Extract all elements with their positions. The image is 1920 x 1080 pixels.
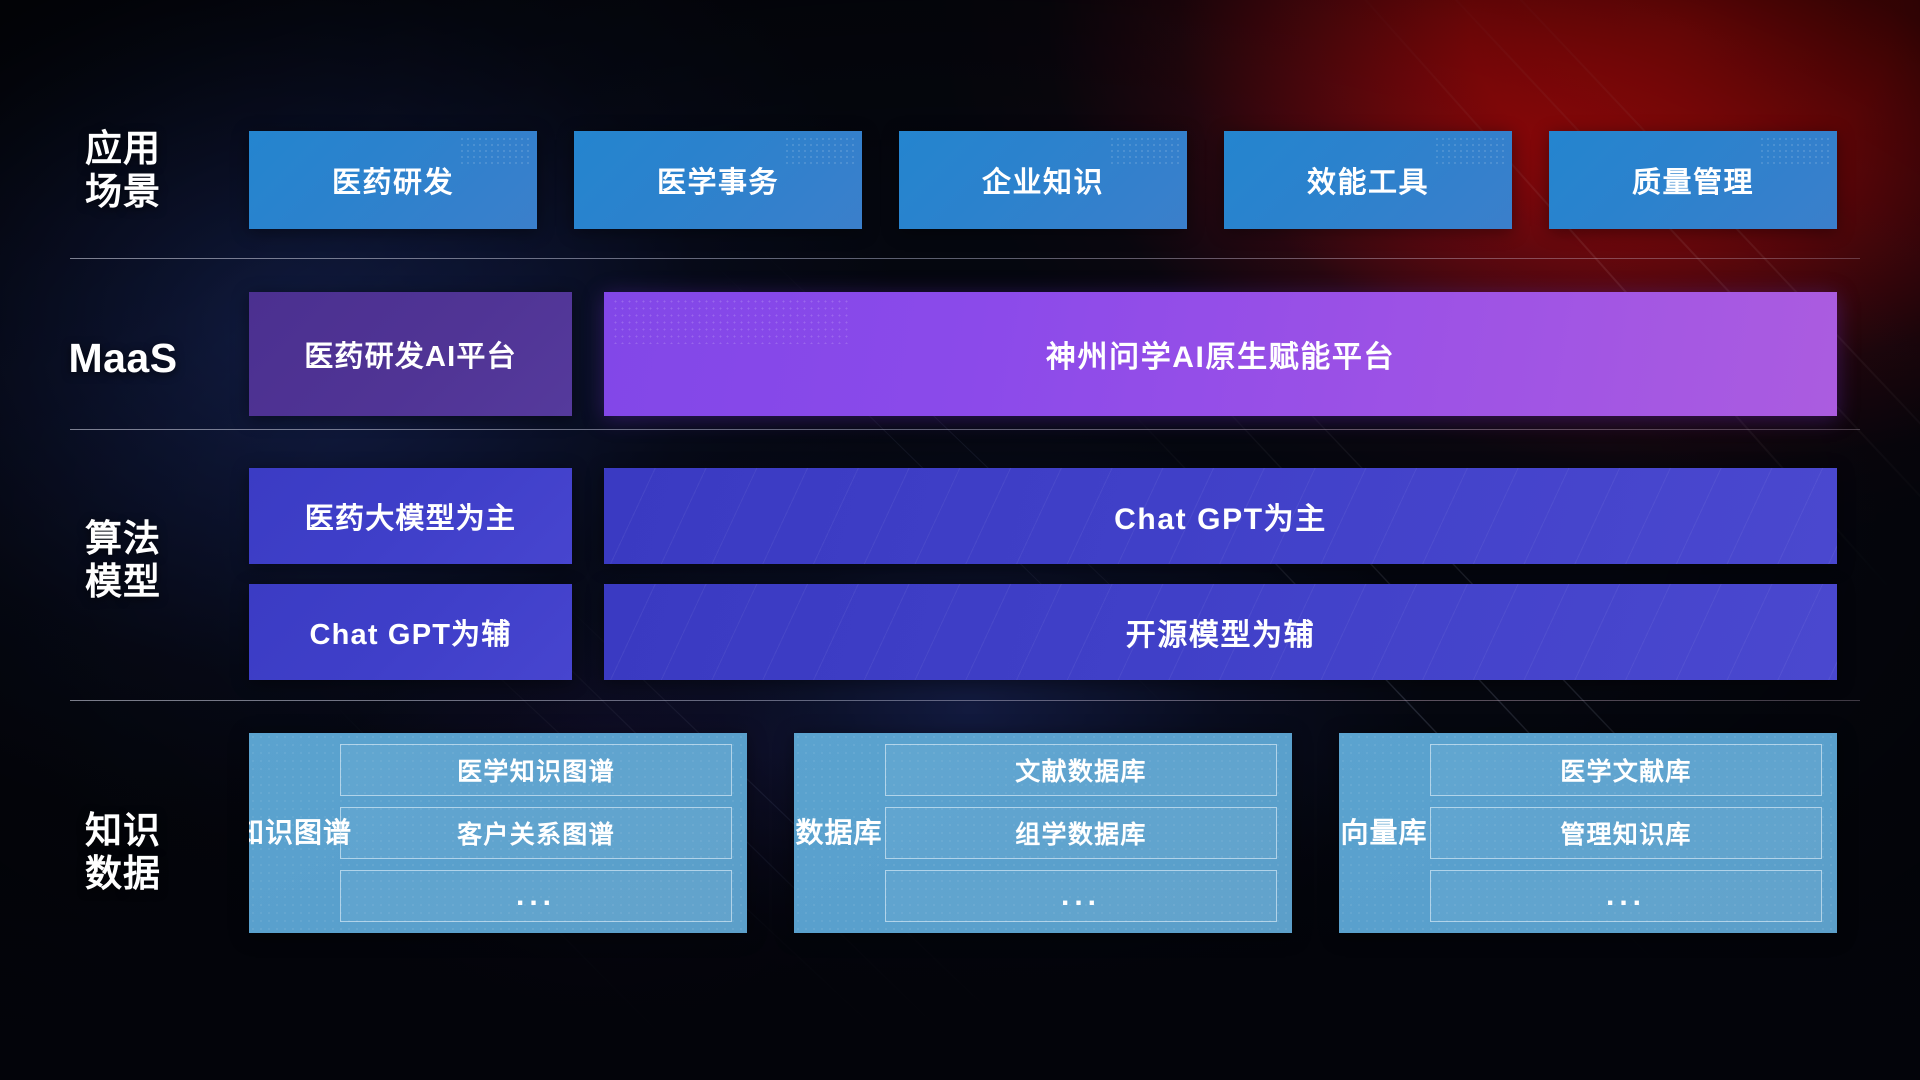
knowledge-item[interactable]: 文献数据库: [885, 744, 1277, 796]
knowledge-item[interactable]: 管理知识库: [1430, 807, 1822, 859]
app-box-enterprise-knowledge[interactable]: 企业知识: [899, 131, 1187, 229]
algo-box-label: Chat GPT为辅: [309, 611, 511, 653]
maas-box-label: 医药研发AI平台: [304, 333, 517, 375]
knowledge-group-items: 文献数据库 组学数据库 ...: [873, 744, 1279, 922]
app-box-medical-affairs[interactable]: 医学事务: [574, 131, 862, 229]
knowledge-group-vector-store[interactable]: 向量库 医学文献库 管理知识库 ...: [1339, 733, 1837, 933]
knowledge-group-items: 医学知识图谱 客户关系图谱 ...: [328, 744, 734, 922]
algo-box-opensource-secondary[interactable]: 开源模型为辅: [604, 584, 1837, 680]
app-box-medical-rnd[interactable]: 医药研发: [249, 131, 537, 229]
knowledge-item-more[interactable]: ...: [1430, 870, 1822, 922]
row-label-line1: 算法: [48, 518, 198, 561]
architecture-diagram: 应用 场景 医药研发 医学事务 企业知识 效能工具 质量管理 MaaS 医药研发…: [0, 0, 1920, 1080]
knowledge-item[interactable]: 组学数据库: [885, 807, 1277, 859]
row-label-line1: 知识: [48, 810, 198, 853]
row-label-line2: 模型: [48, 561, 198, 604]
algo-box-medical-llm-primary[interactable]: 医药大模型为主: [249, 468, 572, 564]
row-label-line1: 应用: [48, 128, 198, 171]
knowledge-item-more[interactable]: ...: [340, 870, 732, 922]
knowledge-item[interactable]: 客户关系图谱: [340, 807, 732, 859]
knowledge-group-category-label: 向量库: [1350, 744, 1418, 922]
knowledge-group-items: 医学文献库 管理知识库 ...: [1418, 744, 1824, 922]
algo-box-chatgpt-secondary[interactable]: Chat GPT为辅: [249, 584, 572, 680]
divider-2: [70, 429, 1860, 430]
knowledge-group-category-label: 知识图谱: [260, 744, 328, 922]
algo-box-chatgpt-primary[interactable]: Chat GPT为主: [604, 468, 1837, 564]
algo-box-label: 医药大模型为主: [305, 495, 516, 537]
row-label-knowledge-data: 知识 数据: [48, 810, 198, 896]
app-box-label: 医药研发: [332, 159, 454, 201]
row-label-text: MaaS: [48, 335, 198, 383]
row-label-algorithm-models: 算法 模型: [48, 518, 198, 604]
divider-1: [70, 258, 1860, 259]
knowledge-item[interactable]: 医学文献库: [1430, 744, 1822, 796]
app-box-label: 医学事务: [657, 159, 779, 201]
algo-box-label: Chat GPT为主: [1114, 494, 1327, 538]
knowledge-group-knowledge-graph[interactable]: 知识图谱 医学知识图谱 客户关系图谱 ...: [249, 733, 747, 933]
row-label-line2: 数据: [48, 853, 198, 896]
knowledge-group-category-label: 数据库: [805, 744, 873, 922]
app-box-label: 效能工具: [1307, 159, 1429, 201]
algo-box-label: 开源模型为辅: [1126, 610, 1316, 654]
knowledge-item-more[interactable]: ...: [885, 870, 1277, 922]
knowledge-group-database[interactable]: 数据库 文献数据库 组学数据库 ...: [794, 733, 1292, 933]
app-box-label: 质量管理: [1632, 159, 1754, 201]
app-box-label: 企业知识: [982, 159, 1104, 201]
knowledge-item[interactable]: 医学知识图谱: [340, 744, 732, 796]
maas-box-label: 神州问学AI原生赋能平台: [1046, 332, 1395, 376]
maas-box-medical-rnd-ai-platform[interactable]: 医药研发AI平台: [249, 292, 572, 416]
row-label-application-scenarios: 应用 场景: [48, 128, 198, 214]
divider-3: [70, 700, 1860, 701]
row-label-maas: MaaS: [48, 335, 198, 383]
maas-box-shenzhou-wenxue-platform[interactable]: 神州问学AI原生赋能平台: [604, 292, 1837, 416]
app-box-quality-management[interactable]: 质量管理: [1549, 131, 1837, 229]
row-label-line2: 场景: [48, 171, 198, 214]
app-box-efficiency-tools[interactable]: 效能工具: [1224, 131, 1512, 229]
